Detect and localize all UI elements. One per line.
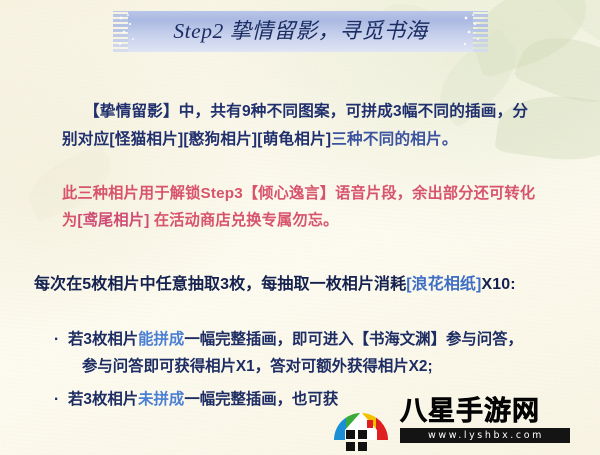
paragraph-intro: 【挚情留影】中，共有9种不同图案，可拼成3幅不同的插画，分别对应[怪猫相片][憨… — [62, 98, 540, 154]
intro-text-tail: 三种不同的相片。 — [331, 131, 457, 148]
page-root: Step2 挚情留影，寻觅书海 【挚情留影】中，共有9种不同图案，可拼成3幅不同… — [0, 0, 600, 455]
bullet-dot-icon: · — [54, 386, 59, 413]
bullet1-line2: 参与问答即可获得相片X1，答对可额外获得相片X2; — [68, 353, 572, 380]
bullet1-line1-b: 一幅完整插画，即可进入【书海文渊】参与问答， — [184, 331, 523, 348]
bullet1-highlight: 能拼成 — [138, 331, 184, 348]
bullet-dot-icon: · — [54, 326, 59, 353]
intro-text-main: 【挚情留影】中，共有9种不同图案，可拼成3幅不同的插画，分别对应[怪猫相片][憨… — [62, 103, 528, 148]
ribbon-right-fringe — [471, 11, 488, 52]
watermark-squares-icon — [346, 430, 367, 451]
pink-text-part2: 在活动商店兑换专属勿忘。 — [149, 212, 338, 229]
title-ribbon: Step2 挚情留影，寻觅书海 — [128, 11, 473, 52]
bullet2-highlight: 未拼成 — [138, 391, 184, 408]
bullet2-line1-a: 若3枚相片 — [68, 391, 138, 408]
paragraph-draw-rule: 每次在5枚相片中任意抽取3枚，每抽取一枚相片消耗[浪花相纸]X10: — [34, 272, 574, 298]
rule-text-part1: 每次在5枚相片中任意抽取3枚，每抽取一枚相片消耗 — [34, 276, 406, 293]
rule-token-wave-paper: [浪花相纸] — [406, 276, 481, 293]
pink-token-iris-photo: [鸢尾相片] — [77, 212, 149, 229]
paragraph-pink-note: 此三种相片用于解锁Step3【倾心逸言】语音片段，余出部分还可转化为[鸢尾相片]… — [62, 180, 544, 234]
list-item: · 若3枚相片能拼成一幅完整插画，即可进入【书海文渊】参与问答， 参与问答即可获… — [52, 326, 572, 380]
bullet1-line1-a: 若3枚相片 — [68, 331, 138, 348]
bullet2-line1-b: 一幅完整插画，也可获 — [184, 391, 338, 408]
rule-bullet-list: · 若3枚相片能拼成一幅完整插画，即可进入【书海文渊】参与问答， 参与问答即可获… — [52, 326, 572, 419]
page-title: Step2 挚情留影，寻觅书海 — [128, 11, 473, 52]
rule-text-part2: X10: — [481, 276, 515, 293]
watermark-site-url: www.lyshbx.com — [400, 428, 570, 443]
list-item: · 若3枚相片未拼成一幅完整插画，也可获 — [52, 386, 572, 413]
